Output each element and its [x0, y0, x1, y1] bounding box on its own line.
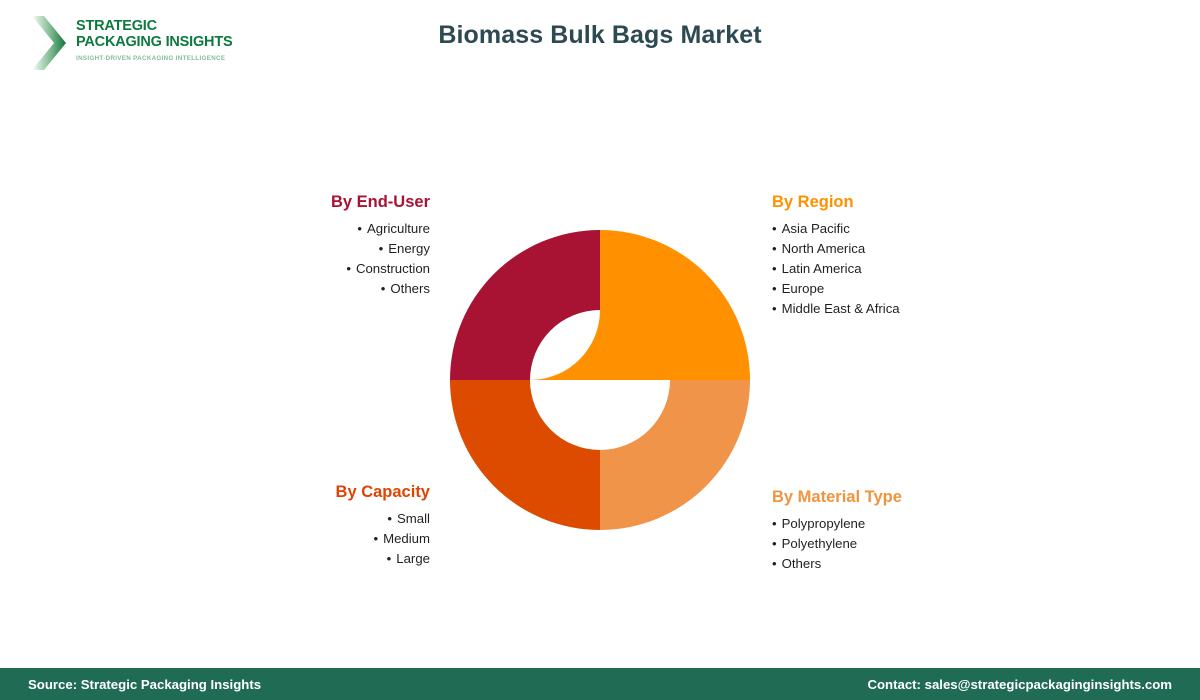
segment-list-end-user: Agriculture Energy Construction Others [210, 219, 430, 299]
donut-segment-end-user [450, 230, 600, 380]
list-item: Latin America [772, 259, 1022, 279]
footer-bar: Source: Strategic Packaging Insights Con… [0, 668, 1200, 700]
list-item: Middle East & Africa [772, 299, 1022, 319]
segment-title-material-type: By Material Type [772, 488, 1022, 508]
list-item: Large [210, 549, 430, 569]
list-item: Others [210, 279, 430, 299]
segment-block-region: By Region Asia Pacific North America Lat… [772, 193, 1022, 319]
list-item: Energy [210, 239, 430, 259]
donut-segment-material-type [600, 380, 750, 530]
segment-title-capacity: By Capacity [210, 483, 430, 503]
list-item: Small [210, 509, 430, 529]
segment-block-capacity: By Capacity Small Medium Large [210, 483, 430, 569]
page-title: Biomass Bulk Bags Market [0, 21, 1200, 50]
segment-list-capacity: Small Medium Large [210, 509, 430, 569]
list-item: Polypropylene [772, 514, 1022, 534]
list-item: North America [772, 239, 1022, 259]
list-item: Asia Pacific [772, 219, 1022, 239]
segment-block-end-user: By End-User Agriculture Energy Construct… [210, 193, 430, 299]
list-item: Medium [210, 529, 430, 549]
list-item: Europe [772, 279, 1022, 299]
donut-segment-capacity [450, 380, 600, 530]
list-item: Construction [210, 259, 430, 279]
donut-chart [450, 230, 750, 530]
segment-title-end-user: By End-User [210, 193, 430, 213]
segment-list-region: Asia Pacific North America Latin America… [772, 219, 1022, 319]
segment-list-material-type: Polypropylene Polyethylene Others [772, 514, 1022, 574]
list-item: Others [772, 554, 1022, 574]
list-item: Polyethylene [772, 534, 1022, 554]
segment-block-material-type: By Material Type Polypropylene Polyethyl… [772, 488, 1022, 574]
list-item: Agriculture [210, 219, 430, 239]
logo-tagline: INSIGHT-DRIVEN PACKAGING INTELLIGENCE [76, 55, 232, 62]
footer-contact: Contact: sales@strategicpackaginginsight… [867, 677, 1172, 692]
footer-source: Source: Strategic Packaging Insights [28, 677, 261, 692]
segment-title-region: By Region [772, 193, 1022, 213]
